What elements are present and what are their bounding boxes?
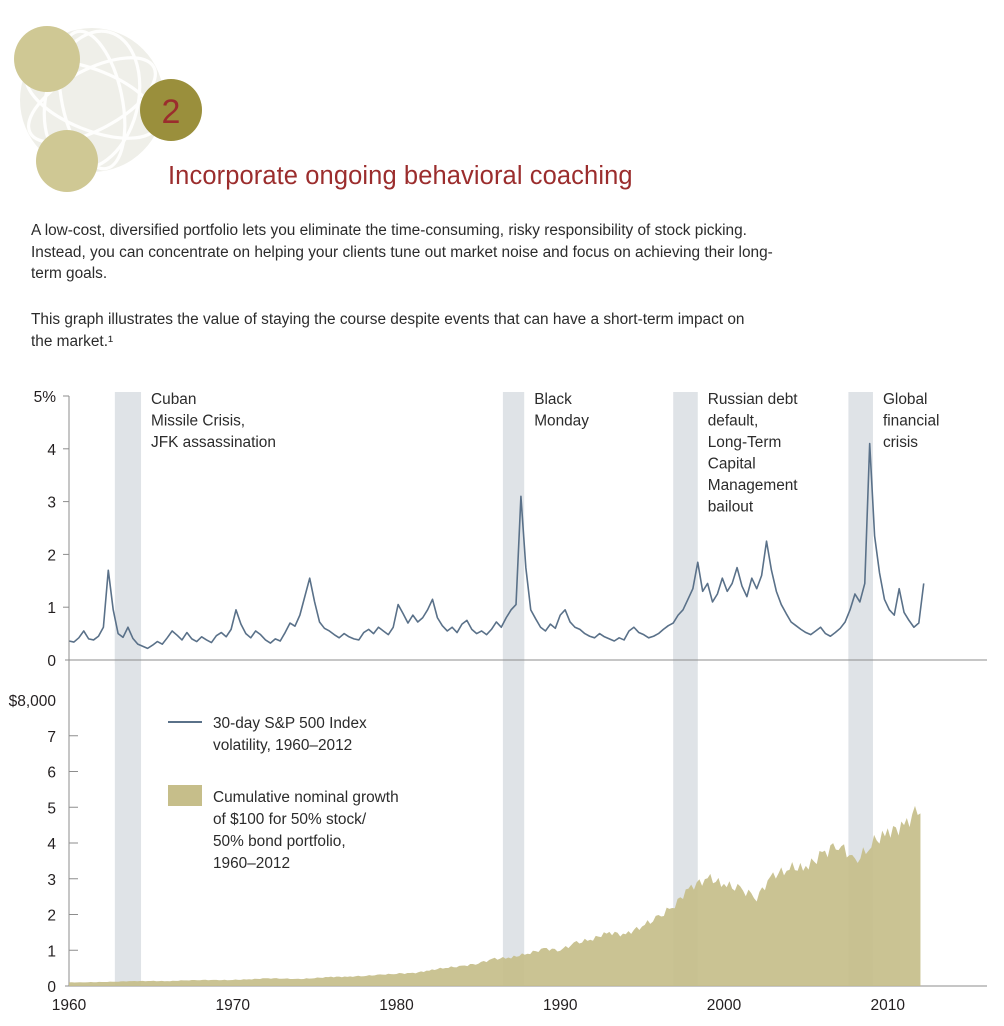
event-annotation-0-line-2: JFK assassination [151,434,276,451]
event-annotation-2-line-0: Russian debt [708,391,799,408]
event-band-bottom-0 [115,630,141,986]
event-annotation-2-line-2: Long-Term [708,434,782,451]
growth-xtick-label-2000: 2000 [707,997,742,1014]
growth-ytick-label-5000: 5 [47,800,56,817]
event-annotation-2-line-1: default, [708,413,759,430]
volatility-ytick-label-3: 3 [47,495,56,512]
legend-growth-line-2: of $100 for 50% stock/ [213,811,367,828]
growth-ytick-label-3000: 3 [47,872,56,889]
event-annotation-2-line-5: bailout [708,499,754,516]
event-annotation-2-line-4: Management [708,477,799,494]
legend-swatch-marker [168,785,202,806]
event-band-top-0 [115,392,141,664]
event-band-top-3 [848,392,873,664]
volatility-ytick-label-4: 4 [47,442,56,459]
event-annotation-1-line-1: Monday [534,413,589,430]
event-band-top-1 [503,392,524,664]
growth-ytick-label-6000: 6 [47,765,56,782]
growth-ytick-label-2000: 2 [47,908,56,925]
legend-volatility-line-1: 30-day S&P 500 Index [213,715,367,732]
growth-xtick-label-1990: 1990 [543,997,578,1014]
event-annotation-3-line-2: crisis [883,434,918,451]
event-annotation-1-line-0: Black [534,391,572,408]
growth-xtick-label-1970: 1970 [215,997,250,1014]
growth-xtick-label-1980: 1980 [379,997,414,1014]
legend-growth-line-1: Cumulative nominal growth [213,789,399,806]
growth-ytick-label-1000: 1 [47,943,56,960]
volatility-ytick-label-1: 1 [47,600,56,617]
growth-ytick-label-0: 0 [47,979,56,996]
event-annotation-0-line-0: Cuban [151,391,196,408]
legend-growth-line-4: 1960–2012 [213,855,290,872]
growth-area [69,795,920,986]
growth-xtick-label-1960: 1960 [52,997,87,1014]
event-annotation-0-line-1: Missile Crisis, [151,413,245,430]
legend-volatility-line-2: volatility, 1960–2012 [213,737,352,754]
volatility-line [69,444,924,649]
event-annotation-2-line-3: Capital [708,456,756,473]
combined-chart: 012345%CubanMissile Crisis,JFK assassina… [0,366,1004,1026]
volatility-ytick-label-5: 5% [34,389,57,406]
event-annotation-3-line-1: financial [883,413,939,430]
growth-ytick-label-4000: 4 [47,836,56,853]
legend-growth-line-3: 50% bond portfolio, [213,833,346,850]
growth-xtick-label-2010: 2010 [870,997,905,1014]
growth-ytick-label-8000: $8,000 [9,693,57,710]
charts-container: 012345%CubanMissile Crisis,JFK assassina… [0,0,1004,1026]
volatility-ytick-label-2: 2 [47,547,56,564]
event-band-top-2 [673,392,698,664]
growth-ytick-label-7000: 7 [47,729,56,746]
volatility-ytick-label-0: 0 [47,653,56,670]
event-band-bottom-1 [503,630,524,986]
event-annotation-3-line-0: Global [883,391,928,408]
